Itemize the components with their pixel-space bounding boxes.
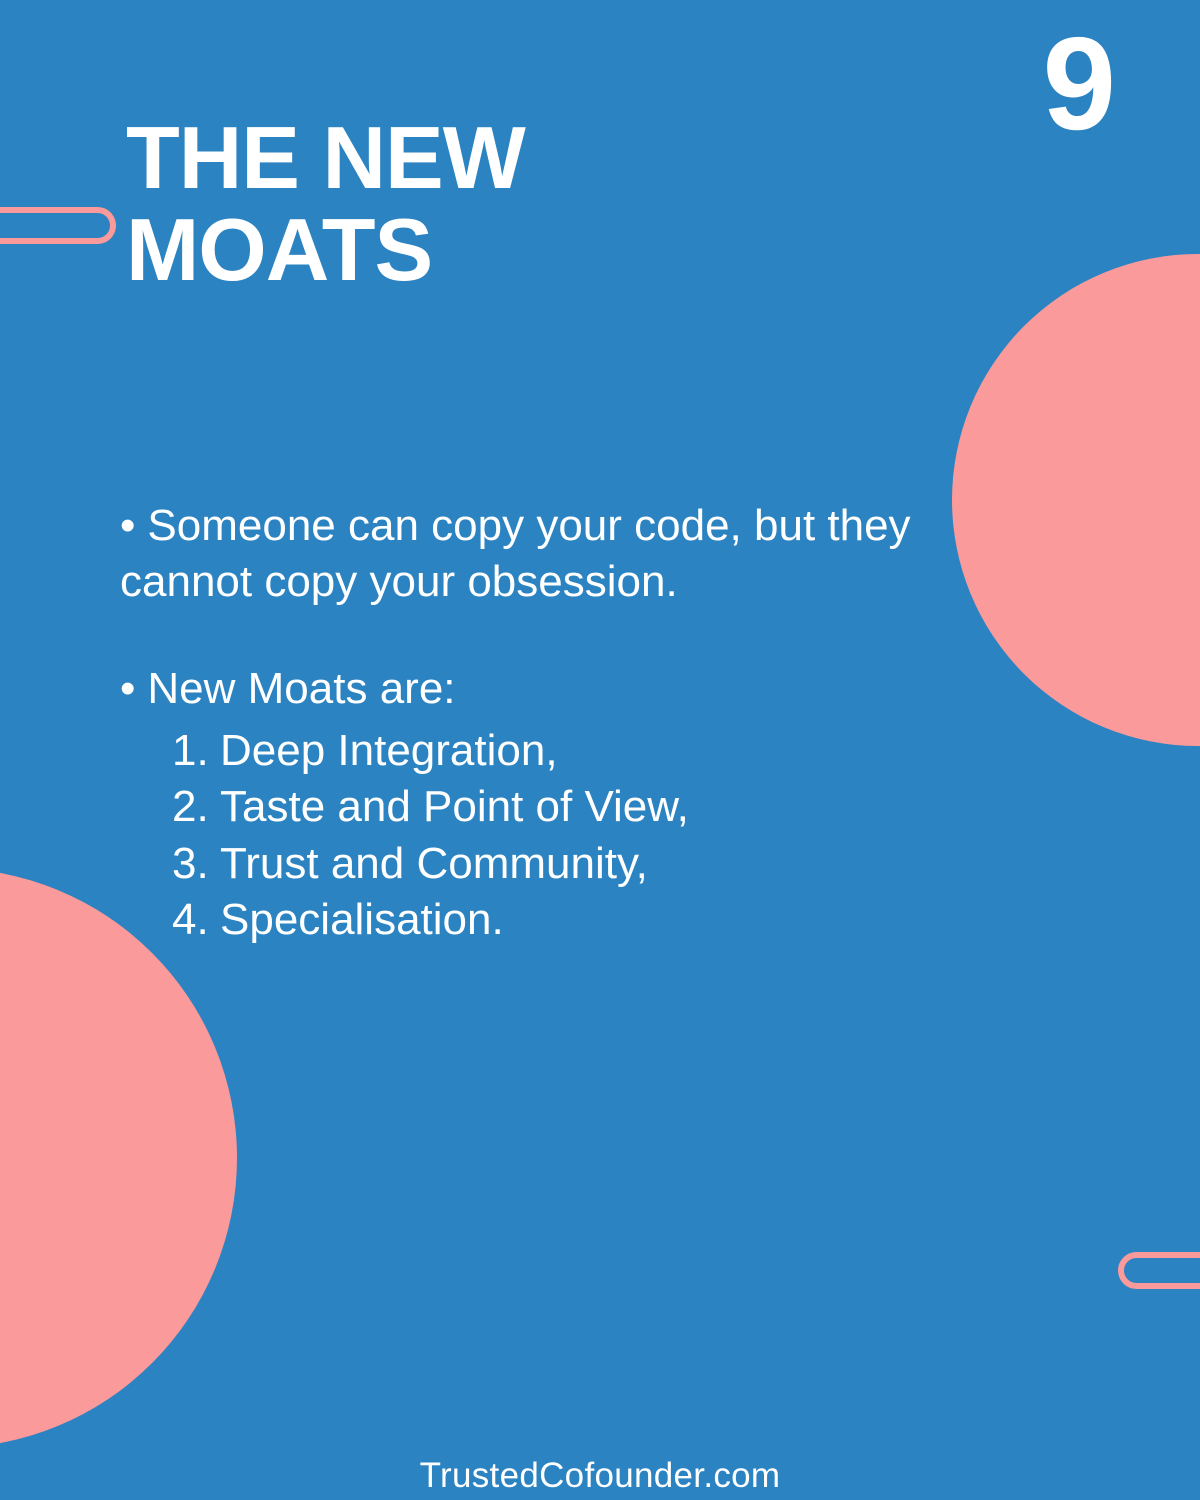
bullet-dot-icon: • bbox=[120, 664, 135, 713]
bullet-dot-icon: • bbox=[120, 501, 135, 550]
bullet-point-1-text: Someone can copy your code, but they can… bbox=[120, 501, 911, 606]
title-line-1: THE NEW bbox=[126, 108, 525, 207]
footer-website: TrustedCofounder.com bbox=[0, 1456, 1200, 1496]
list-item-number: 4. bbox=[172, 892, 220, 948]
list-item: 1. Deep Integration, bbox=[172, 723, 1020, 779]
list-item: 4. Specialisation. bbox=[172, 892, 1020, 948]
page-title: THE NEW MOATS bbox=[126, 112, 746, 297]
paragraph-spacer bbox=[120, 611, 1020, 661]
list-item-label: Specialisation. bbox=[220, 892, 1020, 948]
list-item-number: 3. bbox=[172, 836, 220, 892]
list-item-number: 2. bbox=[172, 779, 220, 835]
slide-number: 9 bbox=[1043, 18, 1114, 150]
list-item: 2. Taste and Point of View, bbox=[172, 779, 1020, 835]
slide-content: 9 THE NEW MOATS •Someone can copy your c… bbox=[0, 0, 1200, 1500]
title-line-2: MOATS bbox=[126, 200, 432, 299]
bullet-point-2: •New Moats are: bbox=[120, 661, 1020, 717]
list-item-number: 1. bbox=[172, 723, 220, 779]
list-item-label: Deep Integration, bbox=[220, 723, 1020, 779]
moats-numbered-list: 1. Deep Integration, 2. Taste and Point … bbox=[120, 723, 1020, 948]
list-item-label: Trust and Community, bbox=[220, 836, 1020, 892]
list-item-label: Taste and Point of View, bbox=[220, 779, 1020, 835]
list-item: 3. Trust and Community, bbox=[172, 836, 1020, 892]
bullet-point-1: •Someone can copy your code, but they ca… bbox=[120, 498, 1020, 611]
bullet-point-2-text: New Moats are: bbox=[147, 664, 455, 713]
body-content: •Someone can copy your code, but they ca… bbox=[120, 498, 1020, 948]
